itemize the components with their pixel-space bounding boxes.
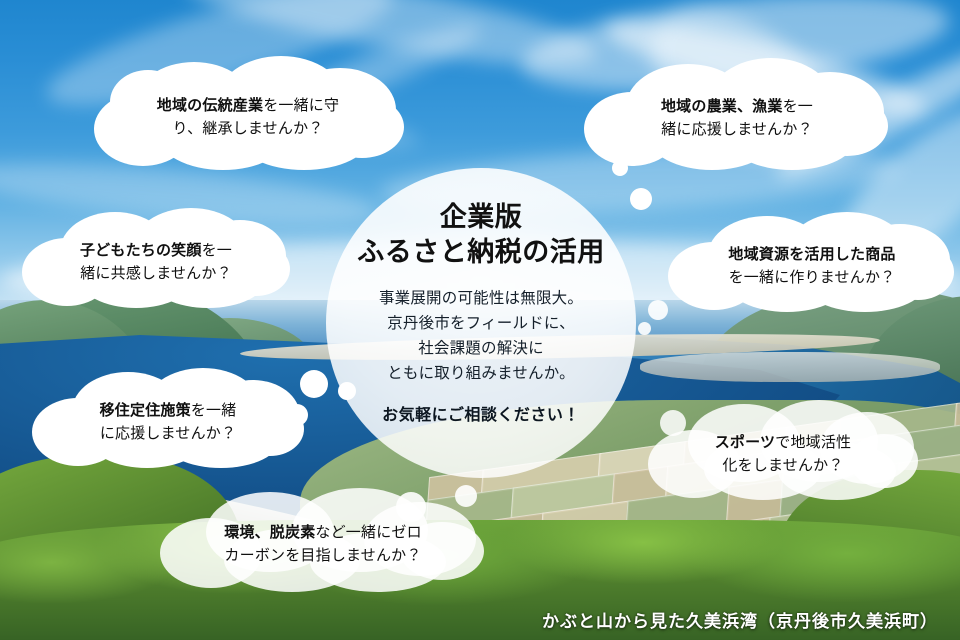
bubble-line1-rest: など一緒にゼロ — [315, 524, 421, 541]
bubble-text: 環境、脱炭素など一緒にゼロ カーボンを目指しませんか？ — [158, 492, 488, 596]
bubble-line1-strong: 地域の伝統産業 — [157, 97, 263, 114]
bubble-line1-strong: 環境、脱炭素 — [224, 524, 315, 541]
bubble-sports-revitalization: スポーツで地域活性 化をしませんか？ — [648, 404, 918, 504]
poster-canvas: 企業版 ふるさと納税の活用 事業展開の可能性は無限大。 京丹後市をフィールドに、… — [0, 0, 960, 640]
bubble-text: 地域資源を活用した商品 を一緒に作りませんか？ — [668, 216, 956, 316]
poster-title: 企業版 ふるさと納税の活用 — [357, 200, 605, 270]
bubble-line2: 緒に共感しませんか？ — [80, 262, 232, 285]
bubble-line1-strong: 移住定住施策 — [100, 402, 191, 419]
center-message-block: 企業版 ふるさと納税の活用 事業展開の可能性は無限大。 京丹後市をフィールドに、… — [326, 168, 636, 478]
bubble-line1-rest: を一 — [783, 98, 813, 115]
bubble-line1-strong: 子どもたちの笑顔 — [80, 242, 202, 259]
bubble-line1-rest: を一緒 — [191, 402, 237, 419]
bubble-zero-carbon: 環境、脱炭素など一緒にゼロ カーボンを目指しませんか？ — [158, 492, 488, 596]
bubble-text: 地域の農業、漁業を一 緒に応援しませんか？ — [582, 62, 892, 174]
bubble-line2: カーボンを目指しませんか？ — [224, 544, 421, 567]
bubble-line1-strong: 地域の農業、漁業 — [661, 98, 783, 115]
bubble-text: 子どもたちの笑顔を一 緒に共感しませんか？ — [22, 212, 290, 312]
bubble-text: 移住定住施策を一緒 に応援しませんか？ — [32, 372, 304, 472]
decor-dot — [300, 370, 328, 398]
bubble-children-smiles: 子どもたちの笑顔を一 緒に共感しませんか？ — [22, 212, 290, 312]
bubble-text: 地域の伝統産業を一緒に守 り、継承しませんか？ — [88, 62, 408, 172]
bubble-line1-rest: を一 — [202, 242, 232, 259]
bubble-line2: に応援しませんか？ — [100, 422, 236, 445]
bubble-line1-rest: を一緒に守 — [263, 97, 339, 114]
bubble-line2: 緒に応援しませんか？ — [661, 118, 813, 141]
bubble-line1-strong: スポーツ — [715, 434, 776, 451]
photo-caption: かぶと山から見た久美浜湾（京丹後市久美浜町） — [542, 607, 938, 632]
bubble-agriculture-fishery: 地域の農業、漁業を一 緒に応援しませんか？ — [582, 62, 892, 174]
bubble-line1-rest: で地域活性 — [775, 434, 851, 451]
bubble-text: スポーツで地域活性 化をしませんか？ — [648, 404, 918, 504]
bubble-line2: を一緒に作りませんか？ — [729, 266, 896, 289]
coastal-town-right — [640, 352, 940, 382]
poster-call-to-action: お気軽にご相談ください！ — [382, 401, 580, 425]
bubble-line1-strong: 地域資源を活用した商品 — [728, 246, 895, 263]
bubble-line2: 化をしませんか？ — [722, 454, 843, 477]
decor-dot — [638, 322, 651, 335]
bubble-line2: り、継承しませんか？ — [173, 117, 324, 140]
decor-dot — [648, 300, 668, 320]
bubble-traditional-industry: 地域の伝統産業を一緒に守 り、継承しませんか？ — [88, 62, 408, 172]
bubble-migration-settlement: 移住定住施策を一緒 に応援しませんか？ — [32, 372, 304, 472]
bubble-local-resources-products: 地域資源を活用した商品 を一緒に作りませんか？ — [668, 216, 956, 316]
poster-body-text: 事業展開の可能性は無限大。 京丹後市をフィールドに、 社会課題の解決に ともに取… — [379, 287, 583, 386]
